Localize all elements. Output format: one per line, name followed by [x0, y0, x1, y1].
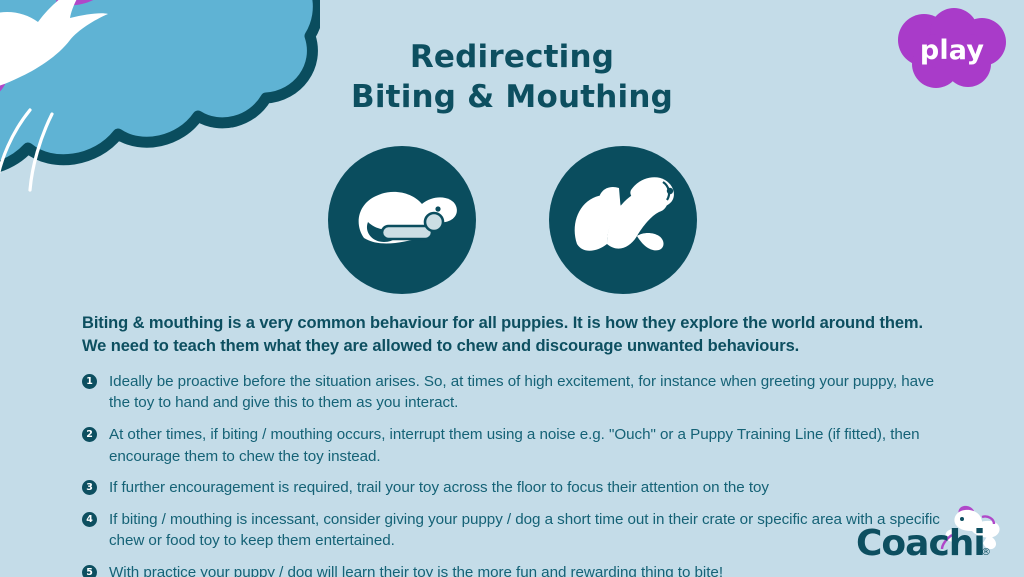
step-item-5: 5 With practice your puppy / dog will le… [82, 562, 944, 577]
body-content: Biting & mouthing is a very common behav… [82, 312, 944, 577]
slide-canvas: play Redirecting Biting & Mouthing [0, 0, 1024, 577]
dog-chewing-toy-icon [328, 146, 476, 294]
step-number-5: 5 [82, 565, 97, 577]
eye-dot [666, 188, 672, 194]
step-text-1: Ideally be proactive before the situatio… [109, 371, 944, 414]
step-text-2: At other times, if biting / mouthing occ… [109, 424, 944, 467]
coachi-wordmark: Coachi [856, 523, 985, 564]
coachi-trademark: ® [981, 547, 991, 558]
step-number-4: 4 [82, 512, 97, 527]
leaping-dog-icon [549, 146, 697, 294]
page-title: Redirecting Biting & Mouthing [0, 38, 1024, 117]
icon-row [0, 146, 1024, 294]
coachi-logo: Coachi ® [856, 505, 1008, 565]
intro-paragraph: Biting & mouthing is a very common behav… [82, 312, 944, 359]
eye-dot [435, 206, 440, 211]
step-text-4: If biting / mouthing is incessant, consi… [109, 509, 944, 552]
step-number-1: 1 [82, 374, 97, 389]
steps-list: 1 Ideally be proactive before the situat… [82, 371, 944, 577]
step-number-3: 3 [82, 480, 97, 495]
step-item-3: 3 If further encouragement is required, … [82, 477, 944, 499]
step-text-3: If further encouragement is required, tr… [109, 477, 944, 499]
step-item-4: 4 If biting / mouthing is incessant, con… [82, 509, 944, 552]
page-title-line-1: Redirecting [0, 38, 1024, 78]
step-item-2: 2 At other times, if biting / mouthing o… [82, 424, 944, 467]
step-text-5: With practice your puppy / dog will lear… [109, 562, 944, 577]
page-title-line-2: Biting & Mouthing [0, 78, 1024, 118]
step-number-2: 2 [82, 427, 97, 442]
step-item-1: 1 Ideally be proactive before the situat… [82, 371, 944, 414]
